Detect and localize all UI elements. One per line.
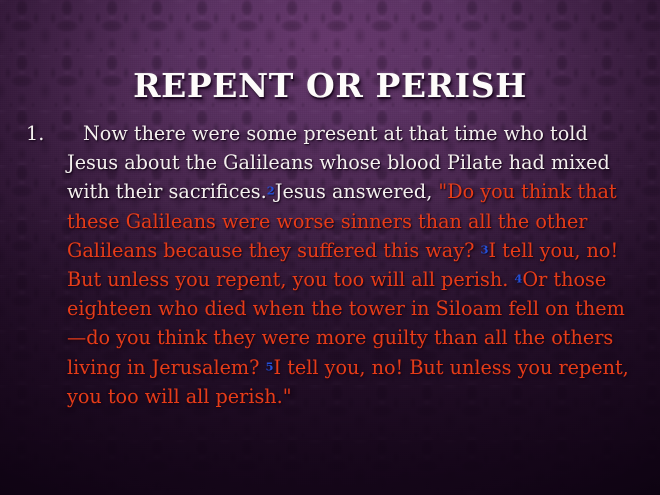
verse-number-5: 5	[266, 359, 274, 373]
list-marker: 1.	[26, 119, 44, 148]
slide-body: 1. Now there were some present at that t…	[22, 119, 638, 411]
slide-title: REPENT OR PERISH	[0, 66, 660, 106]
verse-number-2: 2	[267, 184, 275, 198]
narration-text-part-2: Jesus answered,	[275, 180, 433, 203]
scripture-paragraph: Now there were some present at that time…	[67, 119, 638, 411]
list-item: 1. Now there were some present at that t…	[22, 119, 638, 411]
presentation-slide: REPENT OR PERISH 1. Now there were some …	[0, 0, 660, 495]
